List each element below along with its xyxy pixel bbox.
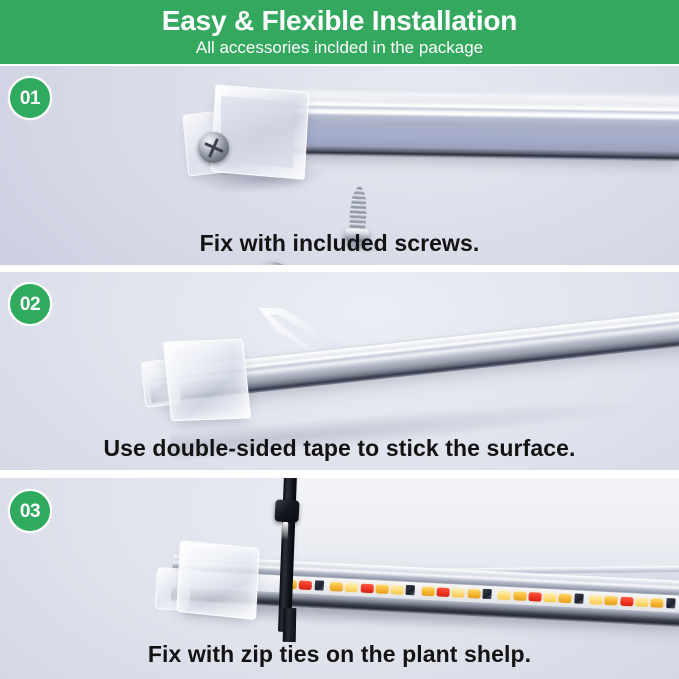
led-diode-red xyxy=(436,587,449,597)
led-diode-amber xyxy=(650,598,663,608)
led-diode-warm xyxy=(498,591,511,601)
led-diode-red xyxy=(528,592,541,602)
header-subtitle: All accessories inclded in the package xyxy=(196,38,483,58)
led-diode-warm xyxy=(345,583,358,593)
step-badge-3: 03 xyxy=(8,489,52,533)
led-diode-amber xyxy=(513,591,526,601)
header-banner: Easy & Flexible Installation All accesso… xyxy=(0,0,679,64)
screw-thread xyxy=(348,185,368,234)
zip-tie-highlight xyxy=(282,522,289,540)
led-diode-warm xyxy=(543,593,556,603)
installation-infographic: Easy & Flexible Installation All accesso… xyxy=(0,0,679,679)
clear-end-cap xyxy=(163,339,252,421)
led-diode-amber xyxy=(375,584,388,594)
led-diode-chip xyxy=(574,593,583,603)
led-diode-amber xyxy=(467,589,480,599)
led-diode-amber xyxy=(421,587,434,597)
step-badge-1: 01 xyxy=(8,76,52,120)
plant-shelf-surface xyxy=(298,478,679,572)
zip-tie-head xyxy=(274,499,299,522)
step-badge-2-number: 02 xyxy=(20,295,40,314)
led-diode-chip xyxy=(406,585,415,595)
led-diode-chip xyxy=(666,598,675,608)
installed-screw-icon xyxy=(198,132,229,163)
step-badge-1-number: 01 xyxy=(20,89,40,108)
step-panel-1: 01 Fix with included screws. xyxy=(0,66,679,265)
header-title: Easy & Flexible Installation xyxy=(162,6,517,35)
step-1-caption: Fix with included screws. xyxy=(0,230,679,257)
step-2-caption: Use double-sided tape to stick the surfa… xyxy=(0,435,679,462)
led-diode-red xyxy=(620,597,633,607)
end-cap-face xyxy=(221,96,293,168)
step-3-caption: Fix with zip ties on the plant shelp. xyxy=(0,641,679,668)
led-diode-chip xyxy=(314,580,323,590)
panel-divider-2 xyxy=(0,470,679,477)
step-panel-3: 03 Fix with zip ties on the plant shelp. xyxy=(0,478,679,679)
led-diode-warm xyxy=(589,595,602,605)
step-badge-3-number: 03 xyxy=(20,502,40,521)
zip-tie-tail xyxy=(283,608,297,642)
step-panel-2: 02 Use double-sided tape to stick the su… xyxy=(0,272,679,470)
panel-divider-1 xyxy=(0,265,679,272)
aluminum-led-bar xyxy=(252,92,679,162)
step-badge-2: 02 xyxy=(8,282,52,326)
led-diode-warm xyxy=(452,588,465,598)
led-diode-amber xyxy=(605,596,618,606)
led-diode-amber xyxy=(329,582,342,592)
led-diode-red xyxy=(360,584,373,594)
led-diode-red xyxy=(299,580,312,590)
led-diode-chip xyxy=(482,589,491,599)
clear-end-cap xyxy=(176,540,259,620)
led-diode-warm xyxy=(635,597,648,607)
led-diode-warm xyxy=(391,585,404,595)
led-diode-amber xyxy=(559,594,572,604)
